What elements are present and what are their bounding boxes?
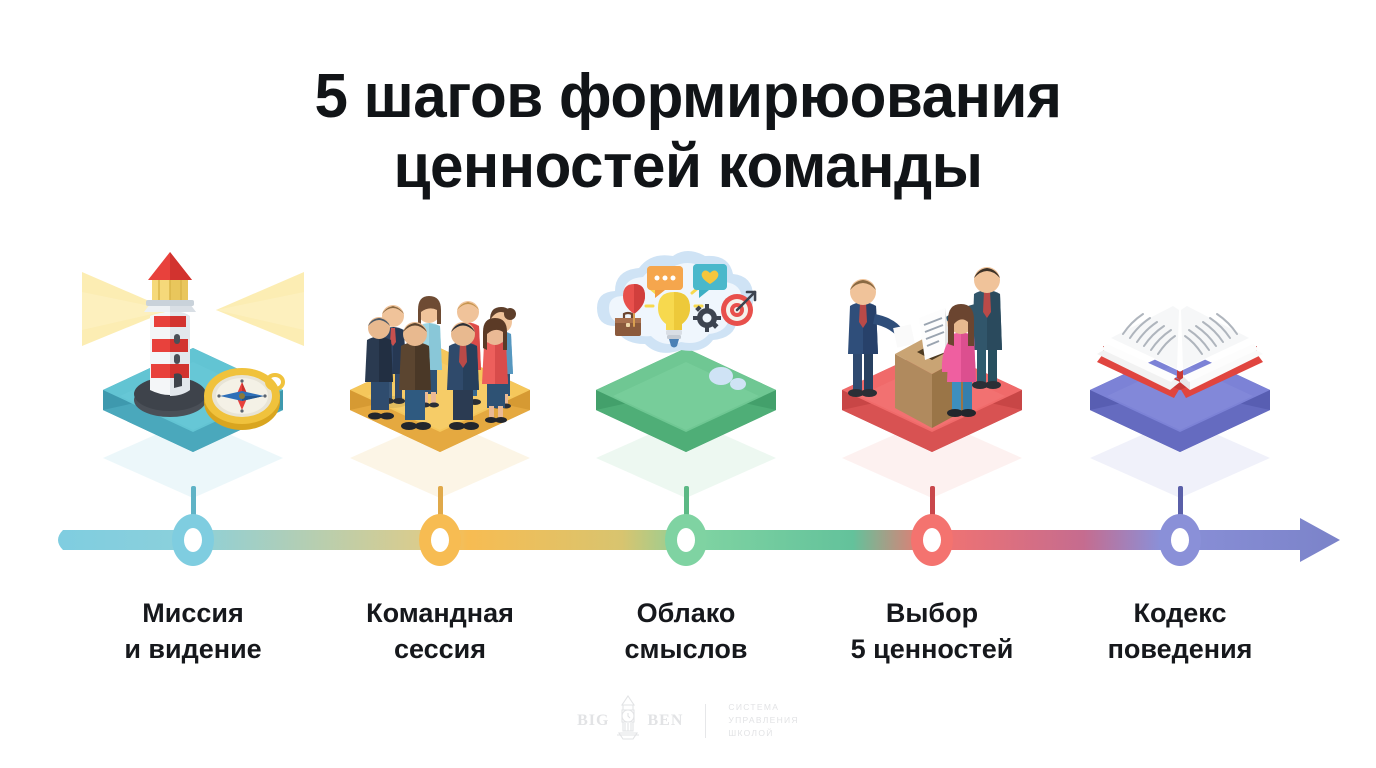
step-labels: Миссия и видение Командная сессия Облако… bbox=[0, 596, 1376, 688]
step-label-5: Кодекс поведения bbox=[1040, 596, 1320, 667]
ballot-box-vote-icon bbox=[809, 250, 1055, 500]
timeline-marker-5[interactable] bbox=[1157, 513, 1203, 567]
infographic-slide: 5 шагов формирюования ценностей команды bbox=[0, 0, 1376, 768]
step-label-4: Выбор 5 ценностей bbox=[792, 596, 1072, 667]
open-book-icon bbox=[1057, 250, 1303, 500]
step-label-3: Облако смыслов bbox=[546, 596, 826, 667]
step-label-1: Миссия и видение bbox=[53, 596, 333, 667]
idea-cloud-icon bbox=[563, 250, 809, 500]
logo-divider bbox=[705, 704, 706, 738]
logo-tagline: СИСТЕМА УПРАВЛЕНИЯ ШКОЛОЙ bbox=[728, 701, 799, 739]
page-title: 5 шагов формирюования ценностей команды bbox=[0, 62, 1376, 202]
lighthouse-compass-icon bbox=[70, 250, 316, 500]
logo-mark: BIG bbox=[577, 695, 683, 746]
timeline-marker-1[interactable] bbox=[170, 513, 216, 567]
logo-word-big: BIG bbox=[577, 712, 609, 730]
step-label-2: Командная сессия bbox=[300, 596, 580, 667]
logo-word-ben: BEN bbox=[647, 712, 683, 730]
footer-logo: BIG bbox=[0, 695, 1376, 746]
title-line-1: 5 шагов формирюования bbox=[21, 62, 1356, 132]
title-line-2: ценностей команды bbox=[21, 132, 1356, 202]
timeline-marker-2[interactable] bbox=[417, 513, 463, 567]
timeline-marker-4[interactable] bbox=[909, 513, 955, 567]
timeline-marker-3[interactable] bbox=[663, 513, 709, 567]
clock-tower-icon bbox=[613, 695, 643, 746]
team-circle-icon bbox=[317, 250, 563, 500]
